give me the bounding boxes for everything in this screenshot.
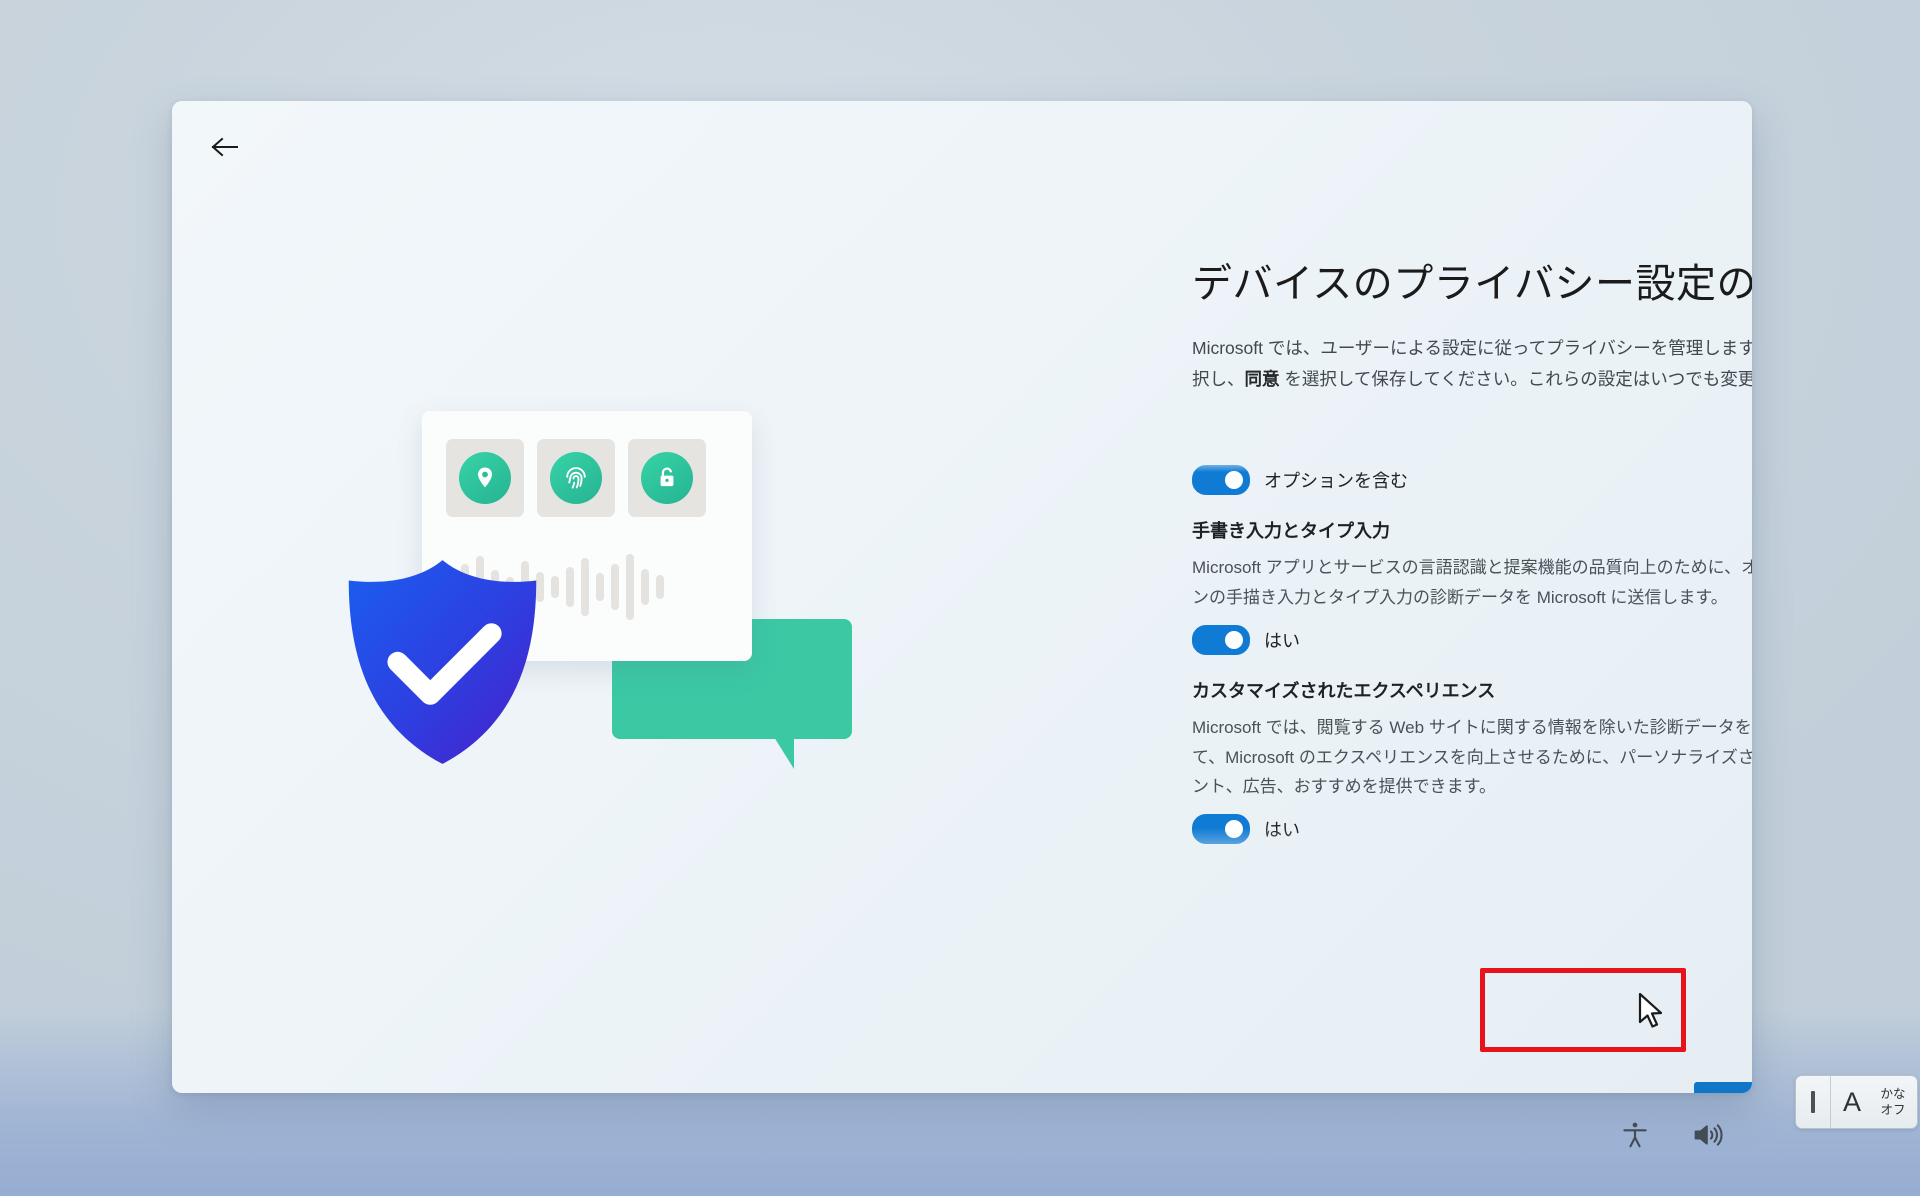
shield-check-icon xyxy=(340,556,545,768)
toggle-row-tailored-experiences[interactable]: はい xyxy=(1192,814,1752,844)
setting-description-inking-typing: Microsoft アプリとサービスの言語認識と提案機能の品質向上のために、オプ… xyxy=(1192,553,1752,613)
content-pane: デバイスのプライバシー設定の選択 Microsoft では、ユーザーによる設定に… xyxy=(1192,261,1752,1041)
ime-kana-line2: オフ xyxy=(1880,1102,1905,1118)
intro-text: Microsoft では、ユーザーによる設定に従ってプライバシーを管理します。設… xyxy=(1192,333,1752,395)
privacy-illustration xyxy=(242,331,882,891)
waveform-bar xyxy=(641,569,649,605)
waveform-bar xyxy=(566,567,574,607)
toggle-knob xyxy=(1225,820,1243,838)
toggle-label-inking-typing: はい xyxy=(1264,627,1300,653)
ime-input-mode[interactable]: A xyxy=(1831,1076,1873,1128)
tile-fingerprint xyxy=(537,439,615,517)
ime-kana-status[interactable]: かな オフ xyxy=(1873,1076,1917,1128)
waveform-bar xyxy=(611,564,619,610)
tile-unlock xyxy=(628,439,706,517)
setting-item-tailored-experiences: カスタマイズされたエクスペリエンス Microsoft では、閲覧する Web … xyxy=(1192,679,1752,844)
toggle-row-inking-typing[interactable]: はい xyxy=(1192,625,1752,655)
volume-icon[interactable] xyxy=(1692,1120,1724,1155)
toggle-switch-advertising[interactable] xyxy=(1192,465,1250,495)
fingerprint-icon xyxy=(550,452,602,504)
waveform-bar xyxy=(596,573,604,601)
page-title: デバイスのプライバシー設定の選択 xyxy=(1192,261,1752,307)
intro-text-emphasis: 同意 xyxy=(1245,369,1280,389)
waveform-bar xyxy=(626,554,634,620)
toggle-label-tailored-experiences: はい xyxy=(1264,816,1300,842)
accessibility-icon[interactable] xyxy=(1620,1120,1650,1155)
toggle-label-advertising: オプションを含む xyxy=(1264,467,1408,493)
oobe-card: デバイスのプライバシー設定の選択 Microsoft では、ユーザーによる設定に… xyxy=(172,101,1752,1093)
setting-item-advertising: オプションを含む xyxy=(1192,465,1752,495)
toggle-row-advertising[interactable]: オプションを含む xyxy=(1192,465,1752,495)
unlocked-padlock-icon xyxy=(641,452,693,504)
waveform-bar xyxy=(551,576,559,598)
waveform-bar xyxy=(581,558,589,616)
toggle-switch-tailored-experiences[interactable] xyxy=(1192,814,1250,844)
footer-actions: 詳細情報 次へ xyxy=(1192,1076,1752,1093)
learn-more-button[interactable]: 詳細情報 xyxy=(1568,1090,1652,1093)
tile-location xyxy=(446,439,524,517)
ime-kana-line1: かな xyxy=(1880,1086,1905,1102)
back-arrow-icon xyxy=(209,135,239,159)
setting-item-inking-typing: 手書き入力とタイプ入力 Microsoft アプリとサービスの言語認識と提案機能… xyxy=(1192,519,1752,655)
settings-scroll-area[interactable]: 広告識別子を使用するアプリに、それらのアプリの使用状況データへのアクセスを許可す… xyxy=(1192,456,1752,876)
next-button[interactable]: 次へ xyxy=(1694,1082,1752,1093)
toggle-switch-inking-typing[interactable] xyxy=(1192,625,1250,655)
location-pin-icon xyxy=(459,452,511,504)
toggle-knob xyxy=(1225,471,1243,489)
back-button[interactable] xyxy=(196,121,252,173)
intro-text-part2: を選択して保存してください。これらの設定はいつでも変更できます。 xyxy=(1284,369,1752,389)
waveform-bar xyxy=(656,575,664,599)
system-tray-icons xyxy=(1620,1120,1724,1155)
toggle-knob xyxy=(1225,631,1243,649)
setting-description-tailored-experiences: Microsoft では、閲覧する Web サイトに関する情報を除いた診断データ… xyxy=(1192,713,1752,802)
ime-caret-cell[interactable] xyxy=(1796,1076,1831,1128)
text-caret-icon xyxy=(1811,1091,1815,1113)
setting-title-inking-typing: 手書き入力とタイプ入力 xyxy=(1192,519,1752,544)
setting-title-tailored-experiences: カスタマイズされたエクスペリエンス xyxy=(1192,679,1752,704)
ime-indicator[interactable]: A かな オフ xyxy=(1795,1075,1918,1129)
